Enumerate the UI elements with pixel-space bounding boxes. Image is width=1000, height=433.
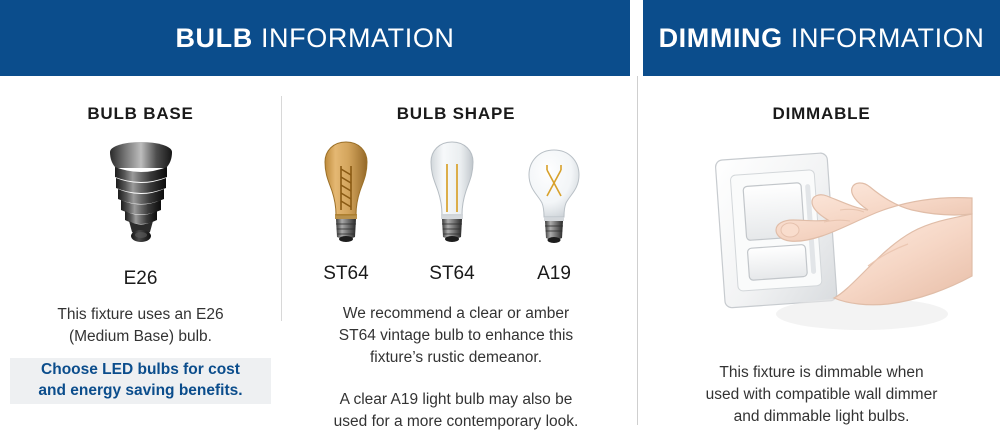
bulb-base-description-line1: This fixture uses an E26	[57, 306, 223, 323]
bulb-shape-paragraph-1: We recommend a clear or amber ST64 vinta…	[316, 303, 596, 369]
dimmable-description-line2: used with compatible wall dimmer	[706, 386, 938, 403]
bulb-shape-label-3: A19	[494, 263, 614, 285]
bulb-shape-paragraph-2: A clear A19 light bulb may also be used …	[316, 389, 596, 433]
bulb-base-label: E26	[0, 268, 281, 290]
led-tip-box: Choose LED bulbs for cost and energy sav…	[10, 358, 271, 404]
bulb-information-header: BULB INFORMATION	[0, 0, 630, 76]
bulb-base-description: This fixture uses an E26 (Medium Base) b…	[26, 304, 256, 348]
infographic-page: BULB INFORMATION BULB BASE	[0, 0, 1000, 425]
hand-pressing-wall-dimmer-icon	[672, 138, 972, 343]
dimming-information-header: DIMMING INFORMATION	[643, 0, 1000, 76]
led-tip-line1: Choose LED bulbs for cost	[41, 361, 240, 378]
clear-st64-bulb-icon	[402, 136, 502, 256]
dimmable-description: This fixture is dimmable when used with …	[692, 362, 952, 428]
dimmable-title: DIMMABLE	[643, 104, 1000, 124]
bulb-shape-item-3	[504, 136, 604, 256]
amber-st64-bulb-icon	[296, 136, 396, 256]
clear-a19-bulb-icon	[504, 136, 604, 256]
header-rest-word: INFORMATION	[253, 23, 455, 53]
dimming-header-rest-word: INFORMATION	[783, 23, 985, 53]
dimmer-art	[643, 138, 1000, 348]
bulb-base-art	[0, 140, 281, 260]
bulb-shape-item-1	[296, 136, 396, 256]
dimming-information-panel: DIMMING INFORMATION DIMMABLE	[643, 0, 1000, 425]
bulb-shape-paragraph-1-line3: fixture’s rustic demeanor.	[370, 349, 542, 366]
bulb-shape-item-2	[402, 136, 502, 256]
dimmable-column: DIMMABLE	[643, 76, 1000, 428]
dimmable-description-line3: and dimmable light bulbs.	[734, 408, 910, 425]
bulb-information-panel: BULB INFORMATION BULB BASE	[0, 0, 630, 425]
bulb-shape-labels: ST64 ST64 A19	[282, 263, 630, 289]
bulb-shape-column: BULB SHAPE	[282, 76, 630, 433]
bulb-base-screw-icon	[98, 140, 184, 252]
bulb-base-column: BULB BASE	[0, 76, 281, 348]
bulb-shape-label-1: ST64	[286, 263, 406, 285]
bulb-shape-paragraph-2-line1: A clear A19 light bulb may also be	[340, 391, 573, 408]
bulb-shape-paragraph-1-line2: ST64 vintage bulb to enhance this	[339, 327, 573, 344]
bulb-shape-art-row	[282, 136, 630, 261]
dimmable-description-line1: This fixture is dimmable when	[719, 364, 923, 381]
bulb-shape-paragraph-2-line2: used for a more contemporary look.	[334, 413, 579, 430]
dimming-header-bold-word: DIMMING	[659, 23, 783, 53]
header-gap	[630, 0, 643, 76]
bulb-information-header-text: BULB INFORMATION	[175, 23, 454, 54]
dimming-information-header-text: DIMMING INFORMATION	[659, 23, 985, 54]
header-bold-word: BULB	[175, 23, 252, 53]
bulb-base-description-line2: (Medium Base) bulb.	[69, 328, 212, 345]
bulb-shape-title: BULB SHAPE	[282, 104, 630, 124]
led-tip-line2: and energy saving benefits.	[38, 382, 242, 399]
bulb-base-title: BULB BASE	[0, 104, 281, 124]
bulb-shape-paragraph-1-line1: We recommend a clear or amber	[343, 305, 569, 322]
